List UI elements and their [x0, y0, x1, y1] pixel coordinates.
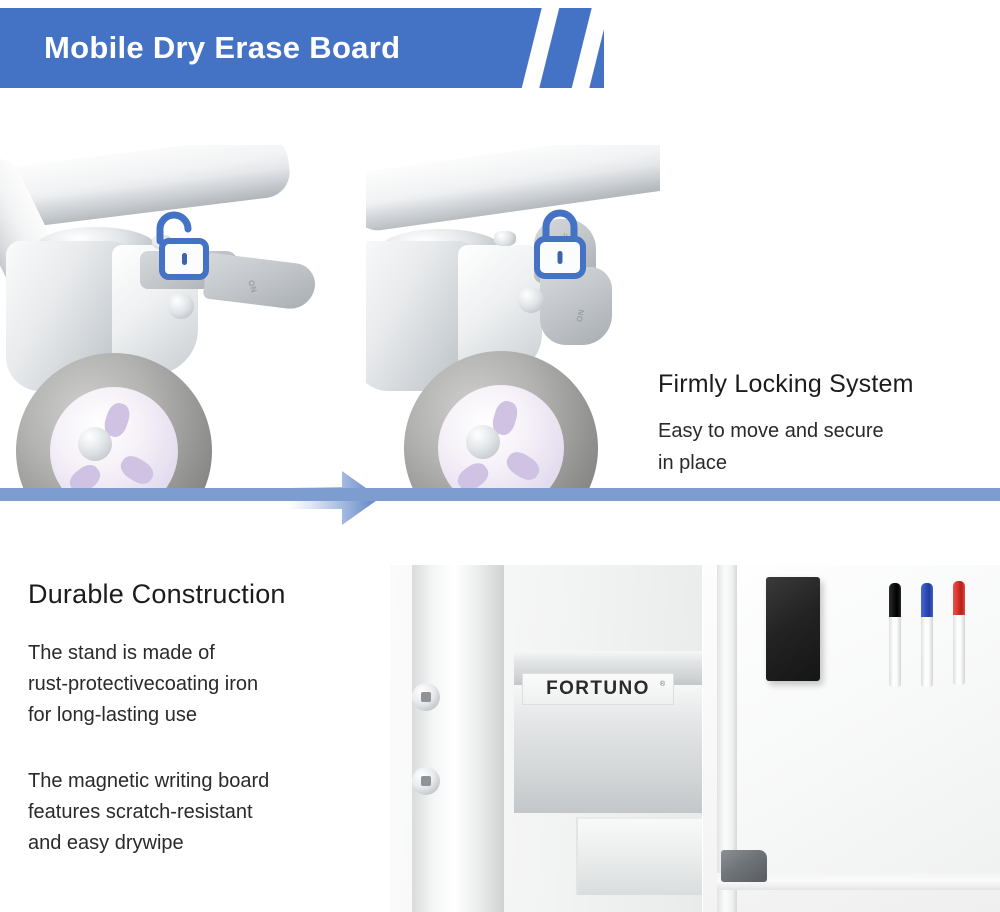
brand-badge-text: FORTUNO	[546, 678, 650, 700]
paragraph-2-line-2: features scratch-resistant	[28, 797, 388, 828]
black-marker-body	[889, 617, 901, 687]
brand-badge: FORTUNO ®	[522, 673, 674, 705]
stand-bar-shading	[0, 145, 293, 235]
blue-marker	[921, 583, 933, 687]
caster-axle-cap	[466, 425, 500, 459]
black-marker-cap	[889, 583, 901, 619]
whiteboard-photo	[703, 565, 1000, 912]
red-marker-body	[953, 615, 965, 685]
red-marker	[953, 581, 965, 685]
pole-bolt-upper	[412, 683, 440, 711]
fork-rivet	[494, 231, 516, 246]
paragraph-1-line-1: The stand is made of	[28, 638, 388, 669]
black-eraser	[766, 577, 820, 681]
durable-construction-heading: Durable Construction	[28, 579, 388, 610]
blue-marker-body	[921, 617, 933, 687]
locking-system-copy: Firmly Locking System Easy to move and s…	[658, 370, 994, 480]
brake-pivot-pin	[168, 293, 194, 319]
paragraph-1-line-2: rust-protectivecoating iron	[28, 669, 388, 700]
caster-locked-photo: OFF ON	[366, 145, 660, 488]
whiteboard-corner-bracket	[721, 850, 767, 882]
page-title: Mobile Dry Erase Board	[44, 30, 400, 66]
black-marker	[889, 583, 901, 687]
blue-marker-cap	[921, 583, 933, 619]
marker-tray	[576, 817, 702, 895]
pole-bolt-lower	[412, 767, 440, 795]
durable-construction-paragraph-1: The stand is made of rust-protectivecoat…	[28, 638, 388, 732]
locking-system-section: OFF ON OFF ON	[0, 145, 1000, 488]
stand-bar-shading	[366, 145, 660, 234]
banner-slash-decoration-2	[567, 8, 604, 88]
caster-axle-cap	[78, 427, 112, 461]
durable-construction-copy: Durable Construction The stand is made o…	[28, 579, 388, 859]
paragraph-2-line-3: and easy drywipe	[28, 828, 388, 859]
locking-system-body-line-1: Easy to move and secure	[658, 415, 994, 447]
header-banner: Mobile Dry Erase Board	[0, 8, 604, 88]
paragraph-1-line-3: for long-lasting use	[28, 700, 388, 731]
locking-system-body: Easy to move and secure in place	[658, 415, 994, 480]
stand-pole	[412, 565, 504, 912]
locked-padlock-icon	[528, 203, 592, 288]
section-divider	[0, 488, 1000, 501]
brake-pivot-pin	[518, 287, 544, 313]
stand-frame-photo: FORTUNO ®	[390, 565, 702, 912]
locking-system-heading: Firmly Locking System	[658, 370, 994, 399]
red-marker-cap	[953, 581, 965, 617]
durable-construction-paragraph-2: The magnetic writing board features scra…	[28, 766, 388, 860]
locking-system-body-line-2: in place	[658, 447, 994, 479]
paragraph-2-line-1: The magnetic writing board	[28, 766, 388, 797]
brand-trademark-symbol: ®	[660, 681, 665, 688]
banner-slash-decoration	[517, 8, 563, 88]
durable-construction-section: Durable Construction The stand is made o…	[0, 501, 1000, 912]
brake-lever-paddle	[203, 252, 318, 311]
caster-unlocked-photo: OFF ON	[0, 145, 366, 488]
unlocked-padlock-icon	[148, 207, 212, 290]
